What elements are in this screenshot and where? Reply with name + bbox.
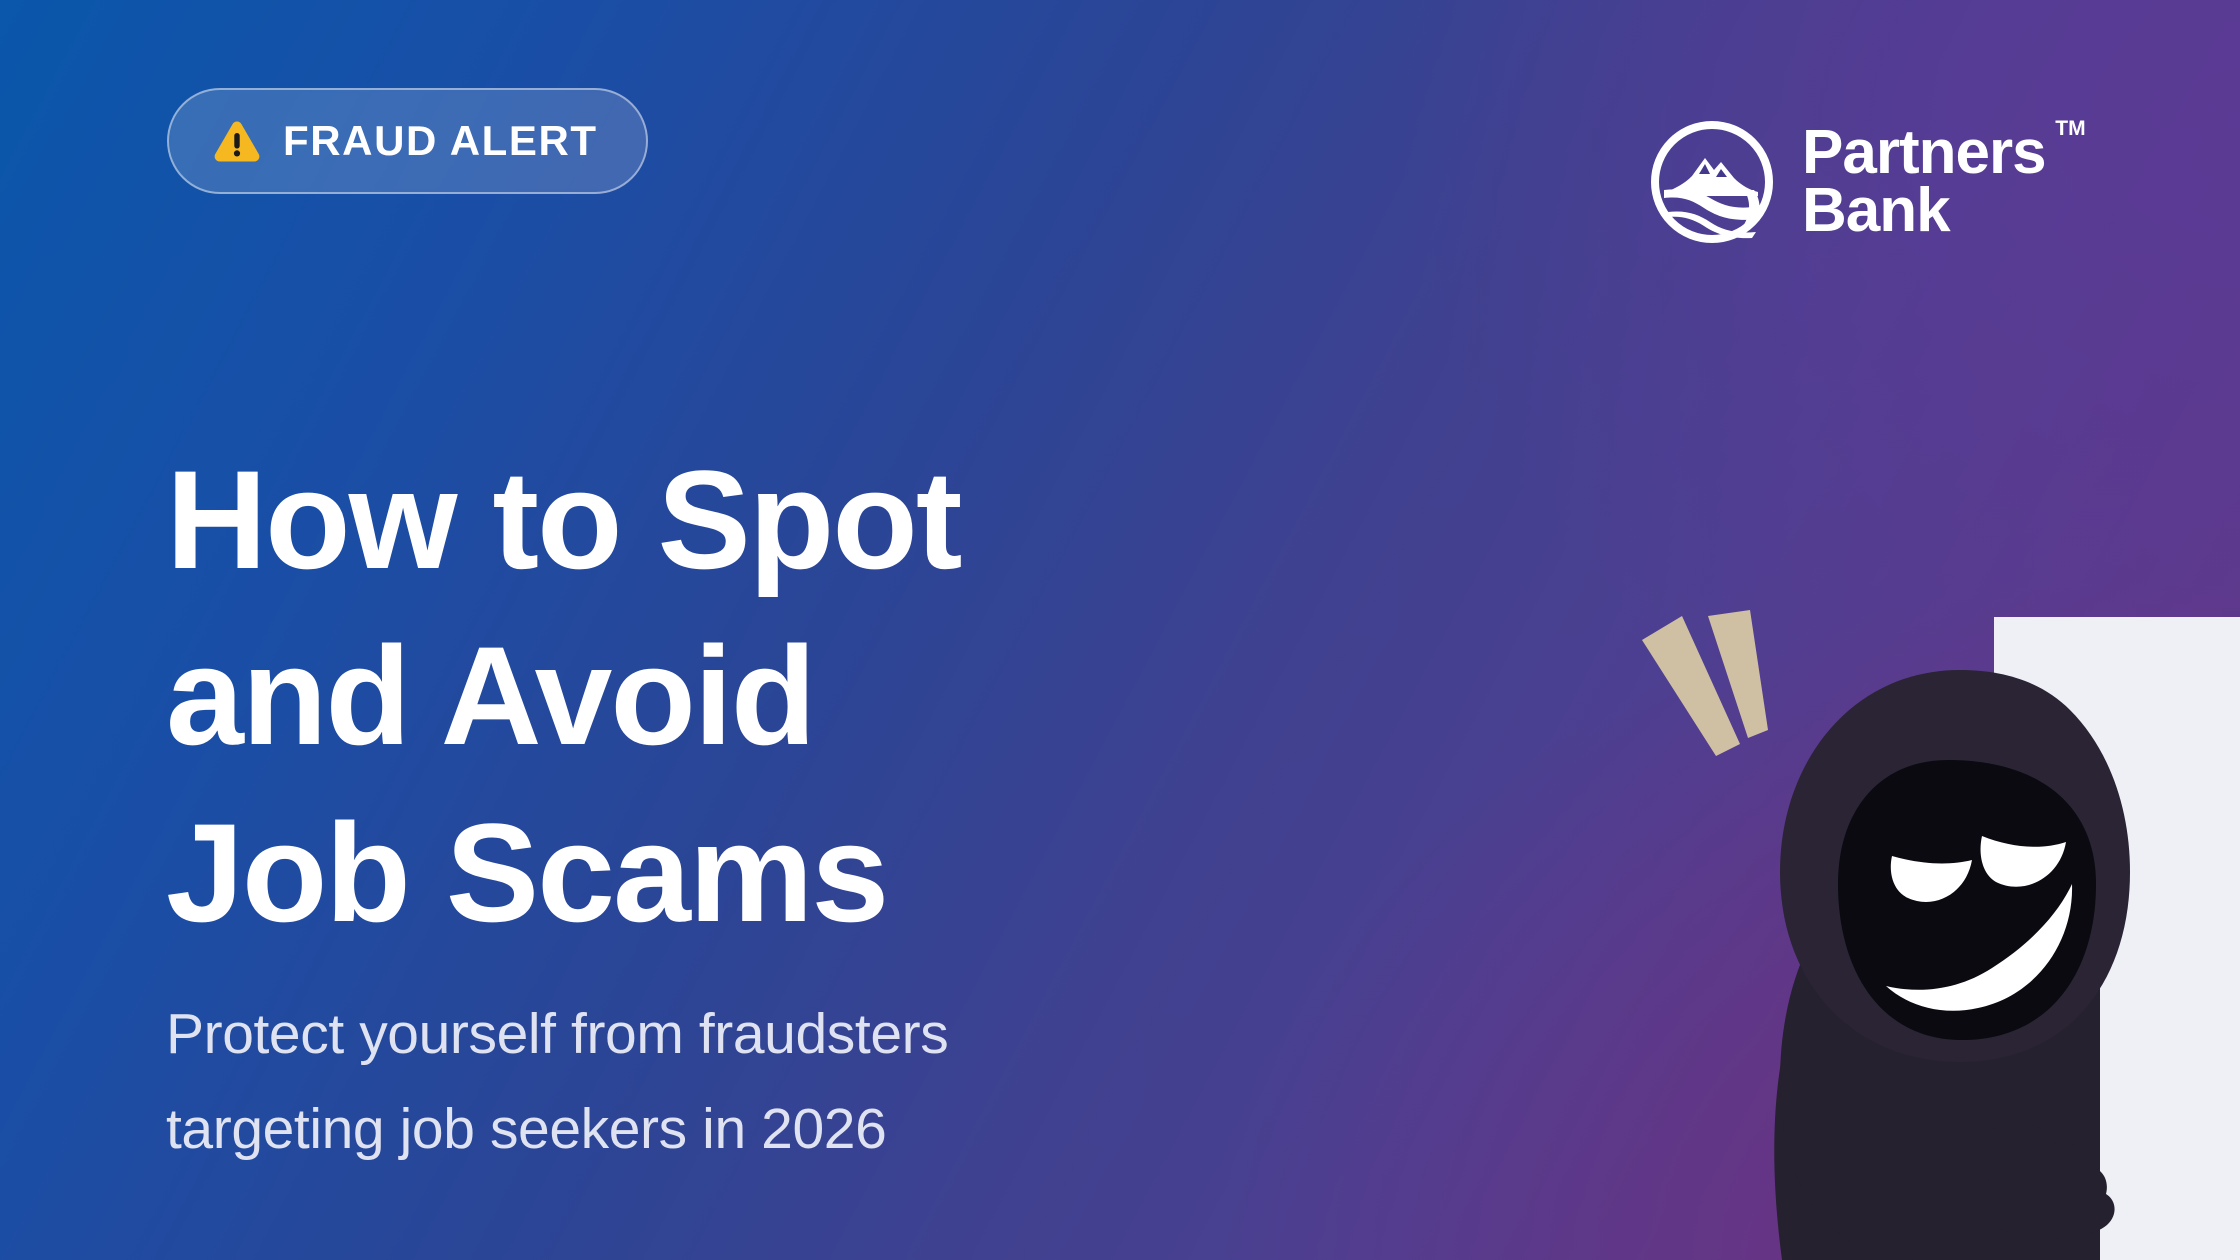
logo-line-1: Partners	[1802, 124, 2046, 182]
trademark-symbol: TM	[2055, 118, 2085, 139]
subtitle-line-2: targeting job seekers in 2026	[166, 1082, 948, 1177]
headline-line-2: and Avoid	[166, 608, 960, 784]
fraud-alert-badge-label: FRAUD ALERT	[283, 120, 598, 162]
page-title: How to Spot and Avoid Job Scams	[166, 432, 960, 961]
mountain-river-circle-icon	[1648, 118, 1776, 246]
page-subtitle: Protect yourself from fraudsters targeti…	[166, 987, 948, 1176]
subtitle-line-1: Protect yourself from fraudsters	[166, 987, 948, 1082]
partners-bank-logo[interactable]: Partners Bank TM	[1648, 118, 2046, 246]
headline-line-3: Job Scams	[166, 785, 960, 961]
warning-triangle-icon	[213, 117, 261, 165]
fraud-alert-badge[interactable]: FRAUD ALERT	[167, 88, 648, 194]
partners-bank-wordmark: Partners Bank TM	[1802, 124, 2046, 239]
fraud-alert-hero-banner: FRAUD ALERT Partners Bank TM Ho	[0, 0, 2240, 1260]
hooded-scammer-illustration	[1630, 610, 2240, 1260]
headline-line-1: How to Spot	[166, 432, 960, 608]
logo-line-2: Bank	[1802, 182, 2046, 240]
motion-slash-group	[1642, 610, 1768, 756]
